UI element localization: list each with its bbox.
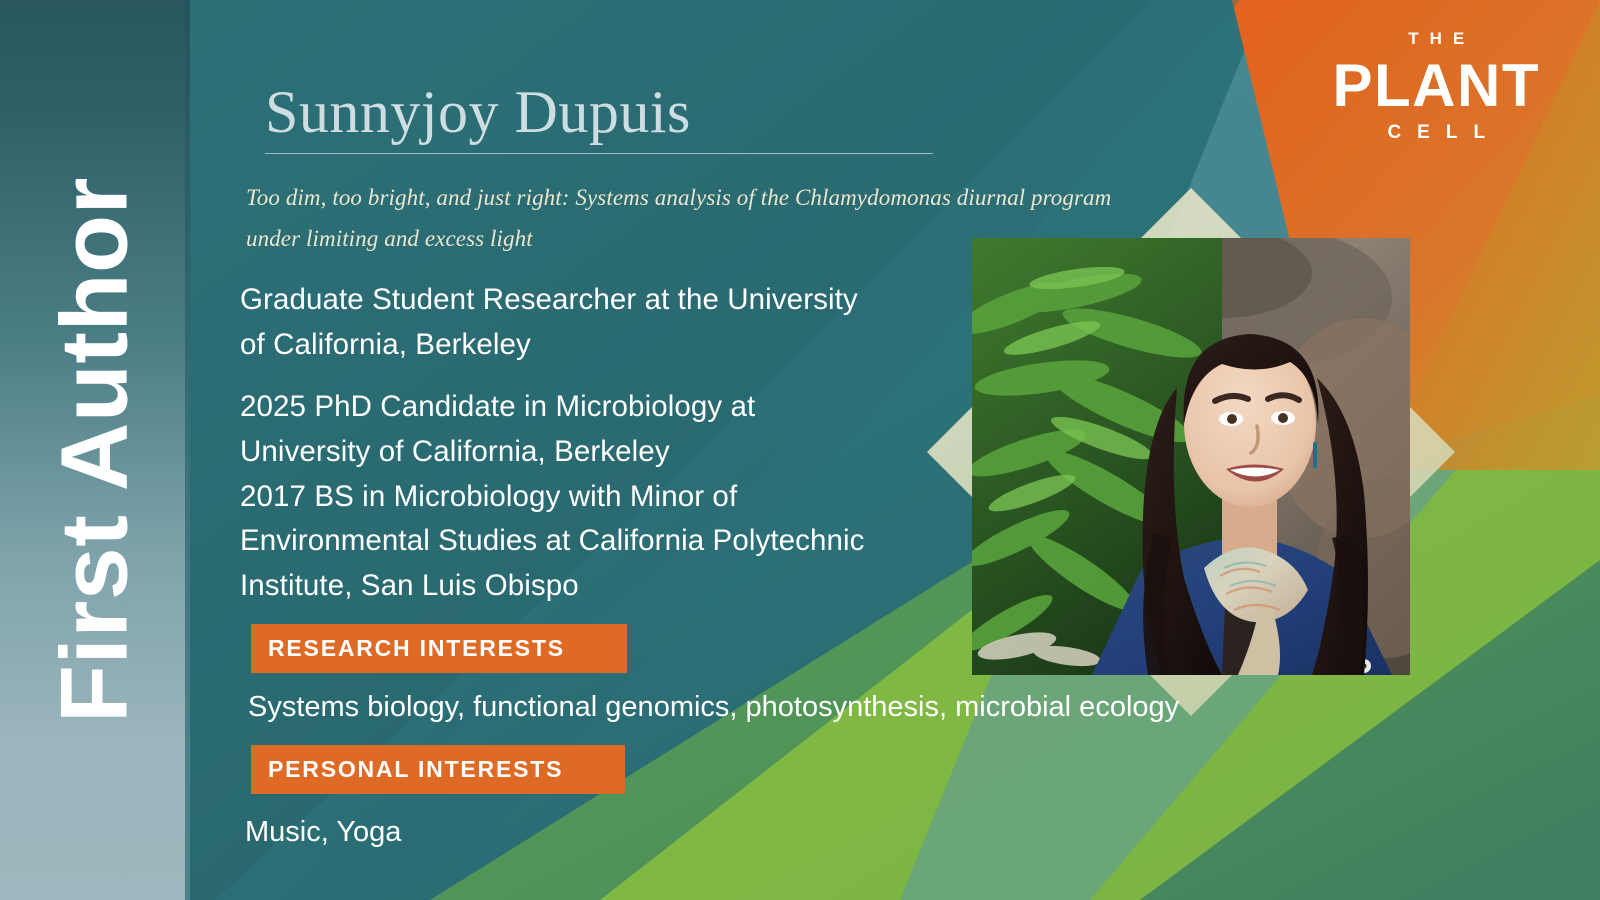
plant-cell-logo: THE PLANT CELL xyxy=(1333,30,1540,142)
author-position: Graduate Student Researcher at the Unive… xyxy=(240,278,880,368)
sidebar: First Author xyxy=(0,0,190,900)
paper-title: Too dim, too bright, and just right: Sys… xyxy=(246,178,1151,260)
personal-interests-text: Music, Yoga xyxy=(245,815,401,850)
logo-line-cell: CELL xyxy=(1349,123,1540,142)
research-interests-badge: RESEARCH INTERESTS xyxy=(251,624,627,673)
slide-root: First Author THE PLANT CELL Sunnyjoy Dup… xyxy=(0,0,1600,900)
author-name-underline xyxy=(265,153,933,154)
logo-line-plant: PLANT xyxy=(1333,56,1540,116)
logo-line-the: THE xyxy=(1344,30,1540,47)
sidebar-title: First Author xyxy=(48,177,143,723)
research-interests-text: Systems biology, functional genomics, ph… xyxy=(248,690,1179,725)
content-column: Sunnyjoy Dupuis Too dim, too bright, and… xyxy=(240,0,1360,900)
personal-interests-badge: PERSONAL INTERESTS xyxy=(251,745,625,794)
sidebar-edge-accent xyxy=(185,0,190,900)
author-name: Sunnyjoy Dupuis xyxy=(265,82,691,142)
author-education: 2025 PhD Candidate in Microbiology at Un… xyxy=(240,385,880,609)
